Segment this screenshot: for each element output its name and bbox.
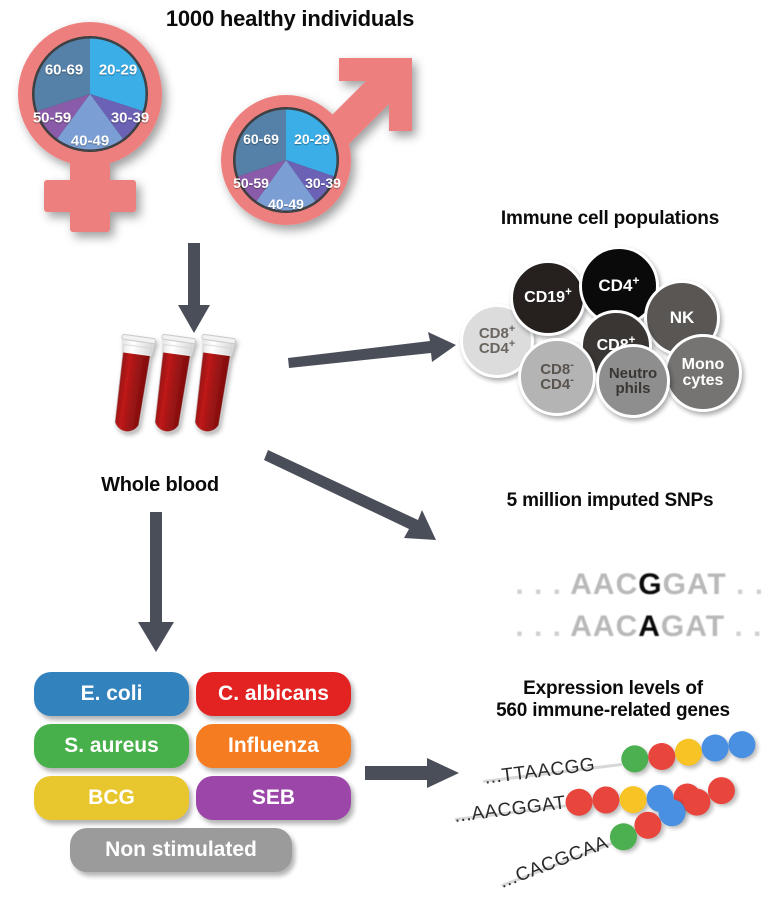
male-pie-label-30-39: 30-39	[305, 175, 341, 191]
snp-sequence-block: . . . ...AACAACGGAT . . . . . . AACAGAT …	[470, 530, 755, 625]
cell-circle-cd19p: CD19+	[510, 260, 586, 336]
male-pie-label-60-69: 60-69	[243, 131, 279, 147]
male-gender-symbol: 20-29 30-39 40-49 50-59 60-69	[198, 52, 428, 242]
arrow-stimulation-to-expression	[365, 756, 465, 790]
expression-title-line2: 560 immune-related genes	[455, 700, 771, 722]
cell-circle-neutrophils: Neutrophils	[596, 344, 670, 418]
expression-title: Expression levels of 560 immune-related …	[455, 678, 771, 723]
female-gender-symbol: 20-29 30-39 40-49 50-59 60-69	[8, 12, 188, 242]
strand-1-bead-5	[727, 730, 757, 760]
female-pie-label-50-59: 50-59	[33, 110, 71, 127]
arrow-cohort-to-blood	[174, 243, 214, 335]
female-symbol-shape	[8, 12, 188, 242]
male-pie-label-50-59: 50-59	[233, 175, 269, 191]
arrow-blood-to-snps	[268, 448, 458, 548]
whole-blood-tubes	[108, 330, 248, 450]
immune-cell-cluster: CD8+CD4+ CD19+ CD4+ NK CD8+ Monocytes CD…	[460, 238, 760, 418]
snp-row-allele-a: . . . AACAGAT . . .	[478, 576, 771, 678]
stimulation-pill-e-coli[interactable]: E. coli	[34, 672, 189, 716]
cell-circle-cd8n-cd4n: CD8-CD4-	[518, 338, 596, 416]
female-pie-label-40-49: 40-49	[71, 133, 109, 150]
arrow-blood-to-stimulation	[134, 512, 180, 654]
strand-1-bead-2	[647, 741, 677, 771]
expression-title-line1: Expression levels of	[455, 678, 771, 700]
arrow-blood-to-immune	[288, 322, 463, 372]
strand-3-sequence: ...CACGCAA	[497, 832, 612, 894]
strand-2-sequence: ...AACGGAT	[453, 792, 567, 828]
stimulation-pill-non-stimulated[interactable]: Non stimulated	[70, 828, 292, 872]
stimulation-pill-bcg[interactable]: BCG	[34, 776, 189, 820]
immune-title: Immune cell populations	[455, 208, 765, 230]
stimulation-pill-influenza[interactable]: Influenza	[196, 724, 351, 768]
gene-expression-strands: ...TTAACGG ...AACGGAT ...CACGCAA	[455, 740, 771, 915]
female-pie-label-60-69: 60-69	[45, 62, 83, 79]
strand-1-bead-3	[673, 737, 703, 767]
female-pie-label-20-29: 20-29	[99, 62, 137, 79]
strand-2-bead-3	[618, 785, 648, 815]
strand-2-bead-2	[591, 785, 621, 815]
snp-variant-a: A	[638, 610, 661, 643]
cell-circle-monocytes: Monocytes	[664, 334, 742, 412]
strand-1-bead-1	[620, 744, 650, 774]
stimulation-pill-c-albicans[interactable]: C. albicans	[196, 672, 351, 716]
blood-tube-group	[108, 330, 248, 450]
snps-title: 5 million imputed SNPs	[460, 490, 760, 512]
male-pie-label-40-49: 40-49	[268, 196, 304, 212]
cohort-title: 1000 healthy individuals	[160, 6, 420, 32]
strand-1-bead-4	[700, 733, 730, 763]
male-pie-label-20-29: 20-29	[294, 131, 330, 147]
female-pie-label-30-39: 30-39	[111, 110, 149, 127]
stimulation-pill-s-aureus[interactable]: S. aureus	[34, 724, 189, 768]
strand-1-sequence: ...TTAACGG	[483, 754, 596, 789]
stimulation-pill-seb[interactable]: SEB	[196, 776, 351, 820]
whole-blood-label: Whole blood	[75, 474, 245, 498]
male-symbol-shape	[198, 52, 428, 242]
stimulation-panel: E. coli C. albicans S. aureus Influenza …	[34, 672, 364, 897]
strand-2-bead-1	[564, 787, 594, 817]
